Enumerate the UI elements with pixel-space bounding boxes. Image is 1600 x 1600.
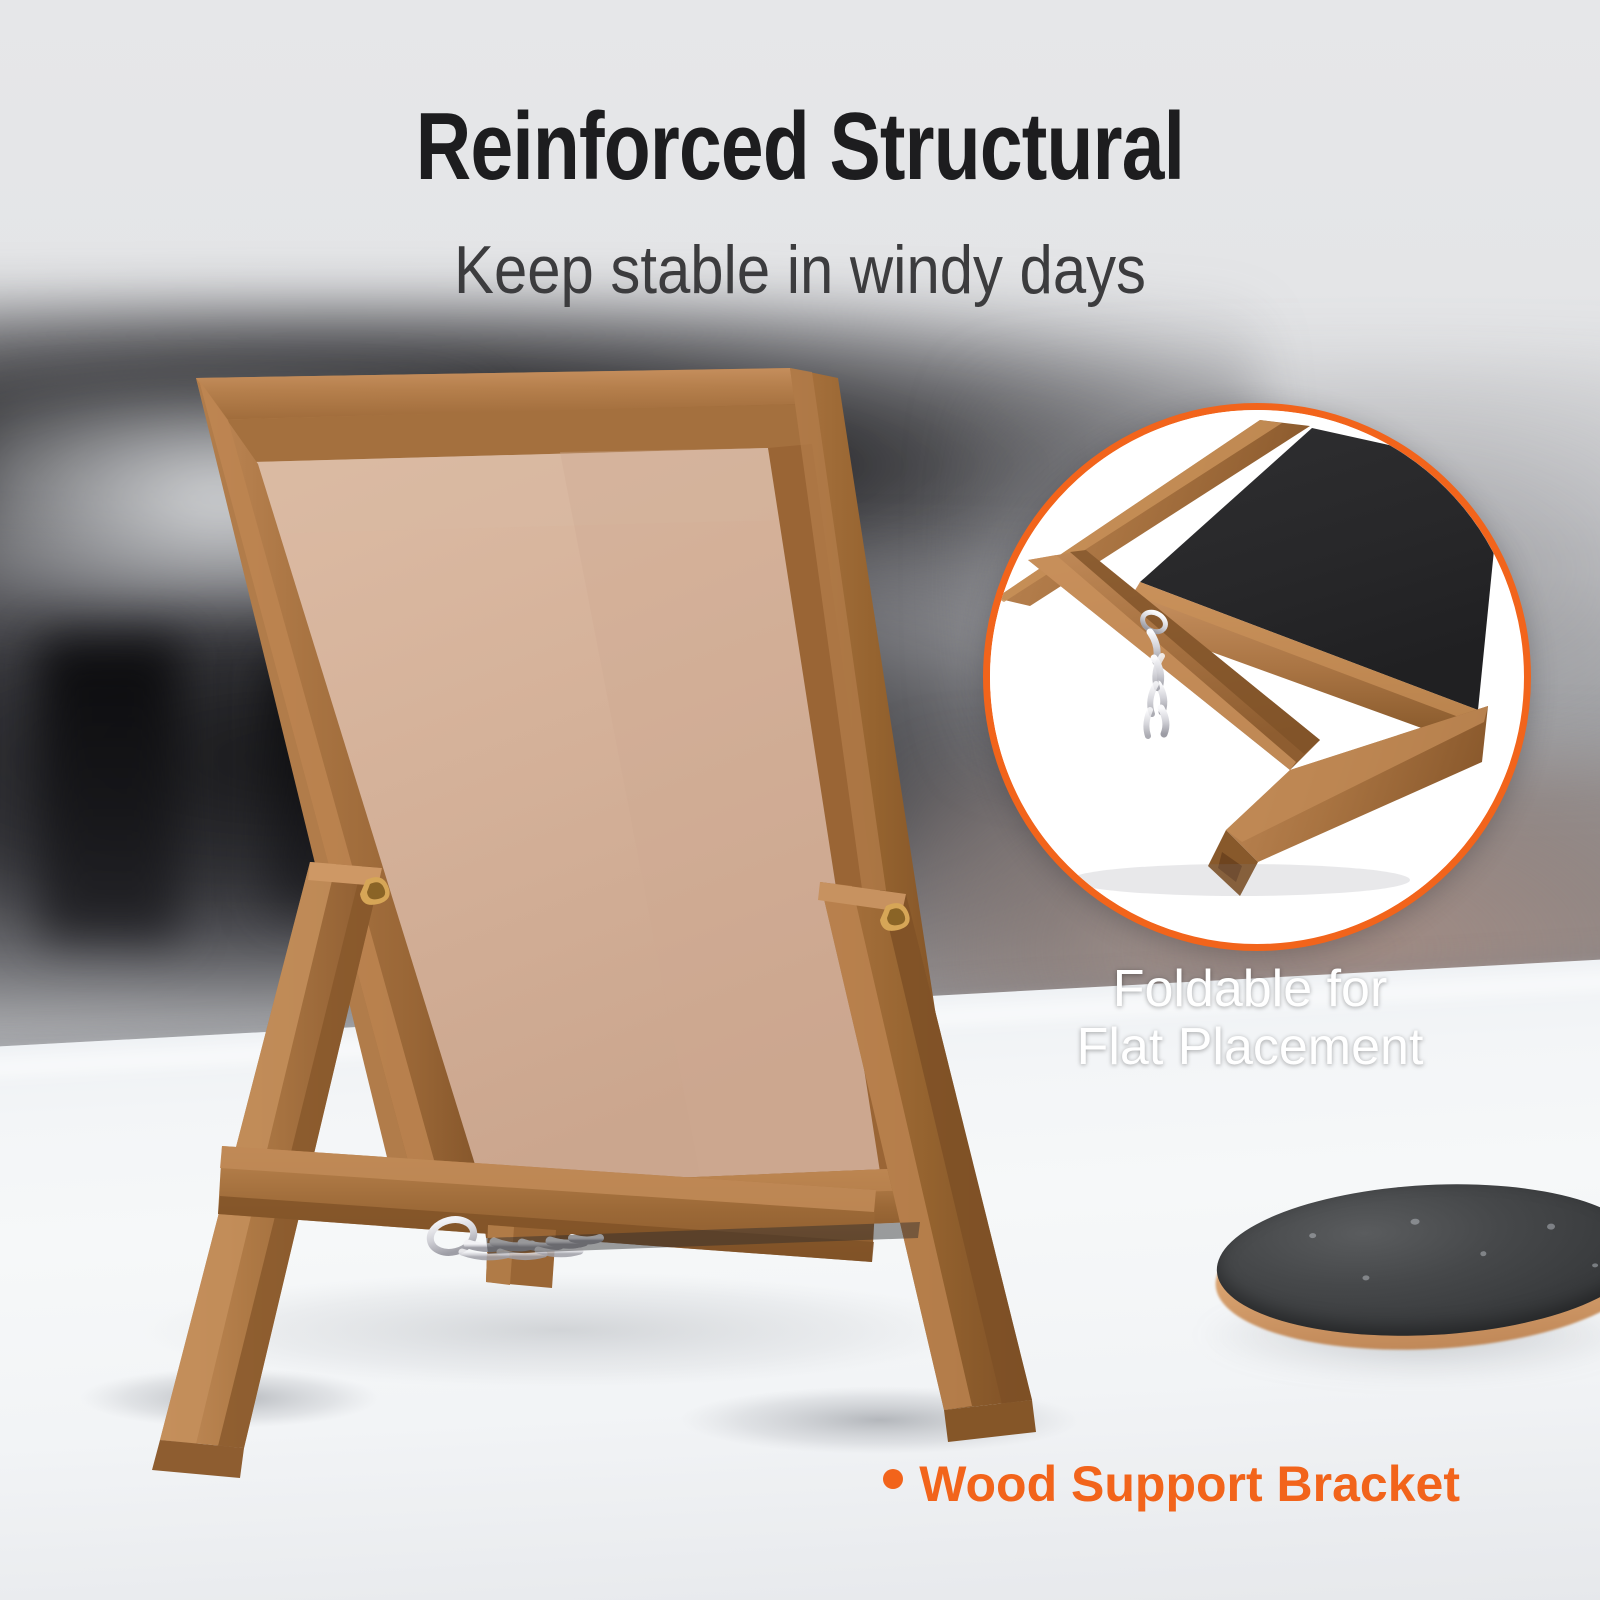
- inset-caption-line-2: Flat Placement: [1010, 1018, 1490, 1076]
- inset-caption-line-1: Foldable for: [1010, 960, 1490, 1018]
- bullet-dot-icon: [883, 1469, 903, 1489]
- inset-caption: Foldable for Flat Placement: [1010, 960, 1490, 1076]
- background-object-b: [270, 660, 390, 910]
- page-title: Reinforced Structural: [160, 96, 1440, 198]
- detail-inset-circle: [983, 403, 1531, 951]
- background-object-c: [560, 620, 750, 910]
- feature-callout-label: Wood Support Bracket: [919, 1456, 1460, 1512]
- page-subtitle: Keep stable in windy days: [96, 232, 1504, 308]
- feature-callout: Wood Support Bracket: [700, 1450, 1460, 1514]
- slate-coaster: [1211, 1174, 1600, 1361]
- background-object-a: [40, 640, 180, 940]
- background-light-reflection: [0, 390, 480, 610]
- product-feature-image: Reinforced Structural Keep stable in win…: [0, 0, 1600, 1600]
